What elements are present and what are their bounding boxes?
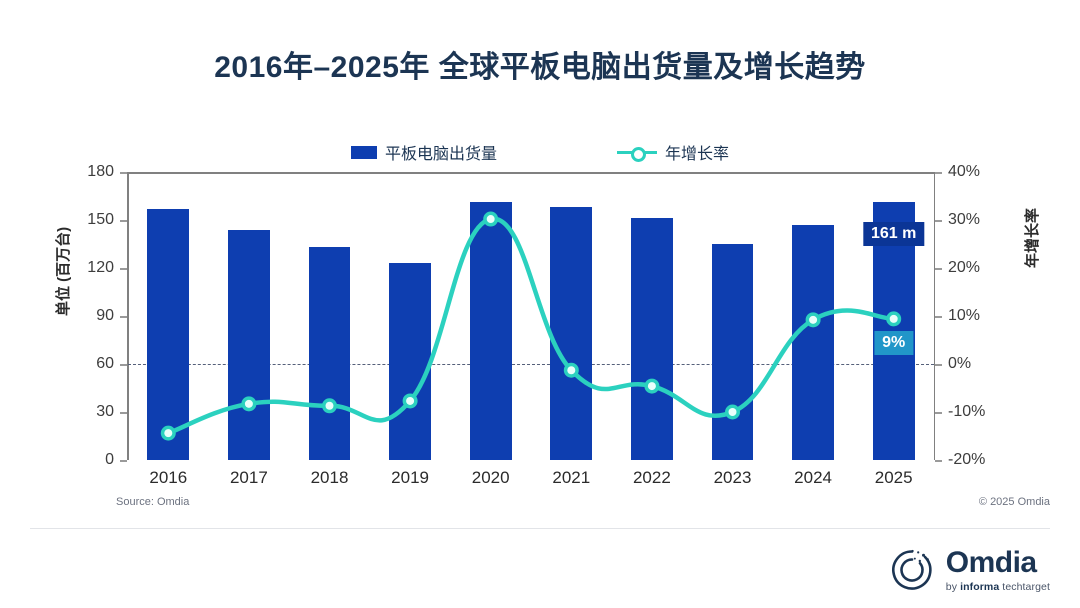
line-marker-center xyxy=(890,315,898,323)
line-marker-center xyxy=(406,397,414,405)
left-axis-tick-label: 0 xyxy=(105,451,114,469)
logo-wordmark: Omdia xyxy=(946,548,1050,578)
legend-label-volume: 平板电脑出货量 xyxy=(385,140,497,164)
right-axis-tick-label: 10% xyxy=(948,307,980,325)
left-axis-tick-label: 120 xyxy=(87,259,114,277)
legend-item-growth[interactable]: 年增长率 xyxy=(617,140,729,164)
right-axis-tick xyxy=(935,220,942,222)
right-axis-tick xyxy=(935,364,942,366)
left-axis-tick xyxy=(120,316,127,318)
bar-swatch-icon xyxy=(351,146,377,159)
chart-page: 2016年–2025年 全球平板电脑出货量及增长趋势 平板电脑出货量 年增长率 … xyxy=(0,0,1080,608)
legend-label-growth: 年增长率 xyxy=(665,140,729,164)
x-axis-tick-label: 2020 xyxy=(472,468,510,488)
right-axis-tick xyxy=(935,460,942,462)
omdia-mark-icon xyxy=(888,546,936,594)
right-axis-tick xyxy=(935,412,942,414)
line-marker-center xyxy=(729,408,737,416)
line-marker-center xyxy=(164,429,172,437)
volume-data-label: 161 m xyxy=(863,222,924,246)
growth-line-series xyxy=(128,172,934,460)
chart-legend: 平板电脑出货量 年增长率 xyxy=(0,140,1080,164)
page-title: 2016年–2025年 全球平板电脑出货量及增长趋势 xyxy=(0,42,1080,86)
right-axis-tick-label: 20% xyxy=(948,259,980,277)
x-axis-tick-label: 2016 xyxy=(149,468,187,488)
left-axis-tick xyxy=(120,268,127,270)
logo-tagline-bold: informa xyxy=(960,581,999,593)
left-axis-tick-label: 30 xyxy=(96,403,114,421)
left-axis-tick xyxy=(120,220,127,222)
right-axis-tick xyxy=(935,316,942,318)
logo-tagline-prefix: by xyxy=(946,581,960,593)
right-axis-tick-label: -20% xyxy=(948,451,985,469)
left-axis-tick xyxy=(120,364,127,366)
copyright-note: © 2025 Omdia xyxy=(979,496,1050,508)
line-marker-center xyxy=(487,215,495,223)
right-axis-tick-label: 40% xyxy=(948,163,980,181)
left-axis-title: 单位 (百万台) xyxy=(52,227,73,316)
right-axis-title: 年增长率 xyxy=(1021,208,1042,268)
right-axis-tick xyxy=(935,172,942,174)
logo-tagline-suffix: techtarget xyxy=(999,581,1050,593)
left-axis-tick-label: 60 xyxy=(96,355,114,373)
left-axis-tick-label: 90 xyxy=(96,307,114,325)
left-axis-tick xyxy=(120,412,127,414)
line-marker-swatch-icon xyxy=(617,145,657,159)
source-note: Source: Omdia xyxy=(116,496,189,508)
left-axis-tick xyxy=(120,460,127,462)
legend-item-volume[interactable]: 平板电脑出货量 xyxy=(351,140,497,164)
line-marker-center xyxy=(648,382,656,390)
logo-tagline: by informa techtarget xyxy=(946,582,1050,593)
footer-divider xyxy=(30,528,1050,529)
x-axis-tick-label: 2017 xyxy=(230,468,268,488)
line-marker-center xyxy=(567,366,575,374)
line-marker-center xyxy=(809,316,817,324)
x-axis-tick-label: 2018 xyxy=(311,468,349,488)
left-axis-tick xyxy=(120,172,127,174)
x-axis-tick-label: 2023 xyxy=(714,468,752,488)
x-axis-tick-label: 2022 xyxy=(633,468,671,488)
right-axis-tick-label: 30% xyxy=(948,211,980,229)
right-axis-tick-label: 0% xyxy=(948,355,971,373)
line-marker-center xyxy=(326,402,334,410)
line-marker-center xyxy=(245,400,253,408)
x-axis-tick-label: 2021 xyxy=(552,468,590,488)
right-axis-tick-label: -10% xyxy=(948,403,985,421)
right-axis-tick xyxy=(935,268,942,270)
growth-line-path xyxy=(168,219,893,433)
x-axis-tick-label: 2024 xyxy=(794,468,832,488)
x-axis-tick-label: 2025 xyxy=(875,468,913,488)
left-axis-tick-label: 150 xyxy=(87,211,114,229)
plot-area: 1801501209060300 40%30%20%10%0%-10%-20% … xyxy=(128,172,934,460)
growth-data-label: 9% xyxy=(874,331,913,355)
omdia-logo: Omdia by informa techtarget xyxy=(888,546,1050,594)
x-axis-tick-label: 2019 xyxy=(391,468,429,488)
left-axis-tick-label: 180 xyxy=(87,163,114,181)
